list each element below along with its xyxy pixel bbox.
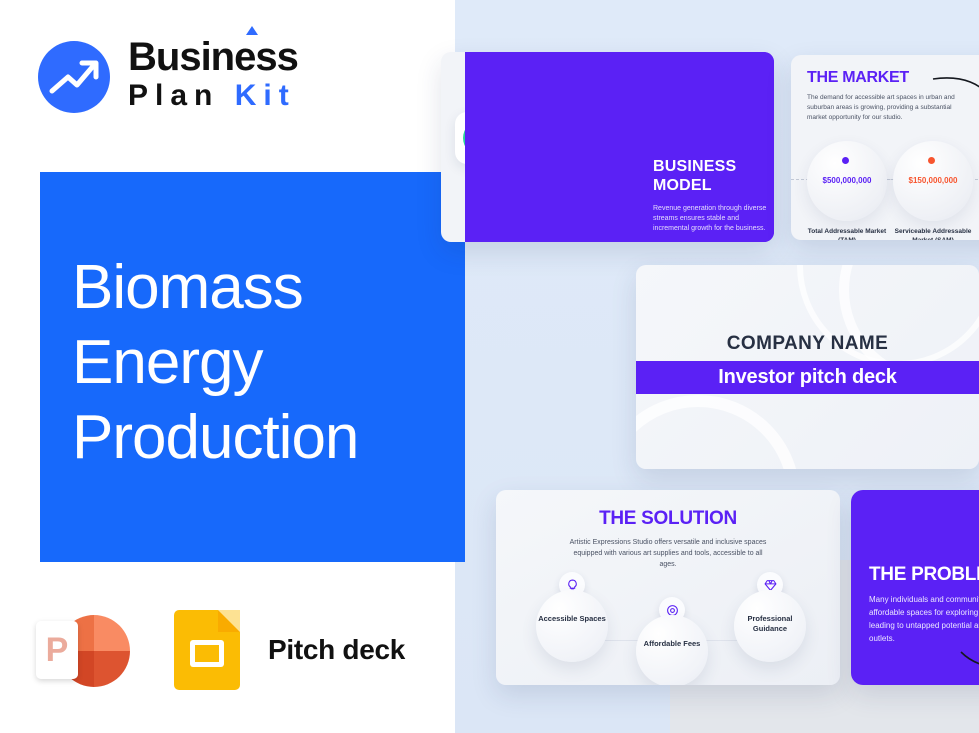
pillar-label: Professional Guidance	[734, 614, 806, 634]
growth-arrow-icon	[38, 41, 110, 113]
market-metric-sam: $150,000,000	[893, 141, 973, 221]
solution-pillar[interactable]: Accessible Spaces	[536, 590, 608, 662]
slide-company-name[interactable]: COMPANY NAME Investor pitch deck	[636, 265, 979, 469]
logo-line-2: Plan Kit	[128, 79, 298, 113]
badge-label: Pitch deck	[268, 634, 405, 666]
poster-canvas: Business Plan Kit Biomass Energy Product…	[0, 0, 979, 733]
subtitle-band: Investor pitch deck	[636, 361, 979, 394]
google-slides-icon	[174, 610, 240, 690]
metric-dot	[842, 157, 849, 164]
logo-kit-word: Kit	[235, 79, 296, 112]
slide-body: Artistic Expressions Studio offers versa…	[568, 537, 768, 570]
solution-pillar[interactable]: Affordable Fees	[636, 615, 708, 685]
caret-icon	[246, 26, 258, 35]
pillar-label: Affordable Fees	[636, 639, 708, 649]
curved-arrow-icon	[931, 73, 979, 118]
metric-dot	[928, 157, 935, 164]
slide-business-model[interactable]: $ Drop-in Fees Session Workshops Commiss…	[441, 52, 774, 242]
slide-title: THE PROBLEM	[869, 564, 979, 586]
market-metric-tam: $500,000,000	[807, 141, 887, 221]
solution-pillar[interactable]: Professional Guidance	[734, 590, 806, 662]
slide-body: Revenue generation through diverse strea…	[653, 204, 774, 234]
curved-arrow-icon	[959, 650, 979, 681]
metric-value: $150,000,000	[893, 176, 973, 185]
format-badges: P Pitch deck	[36, 605, 405, 695]
company-name: COMPANY NAME	[636, 333, 979, 355]
page-title: Biomass Energy Production	[72, 250, 462, 475]
slide-the-solution[interactable]: THE SOLUTION Artistic Expressions Studio…	[496, 490, 840, 685]
metric-caption: Total Addressable Market (TAM)	[801, 227, 893, 240]
slide-body: Many individuals and communities lack ac…	[869, 593, 979, 645]
slide-title: THE SOLUTION	[496, 508, 840, 530]
slide-the-problem[interactable]: THE PROBLEM Many individuals and communi…	[851, 490, 979, 685]
pillar-label: Accessible Spaces	[536, 614, 608, 624]
powerpoint-icon: P	[36, 605, 132, 695]
metric-value: $500,000,000	[807, 176, 887, 185]
slide-title: BUSINESS MODEL	[653, 157, 773, 195]
brand-logo: Business Plan Kit	[38, 35, 358, 117]
logo-line-1: Business	[128, 35, 298, 79]
decorative-ring	[636, 395, 800, 469]
slide-title: THE MARKET	[807, 69, 909, 87]
metric-caption: Serviceable Addressable Market (SAM)	[887, 227, 979, 240]
slide-the-market[interactable]: THE MARKET The demand for accessible art…	[791, 55, 979, 240]
slide-subtitle: Investor pitch deck	[718, 366, 896, 389]
